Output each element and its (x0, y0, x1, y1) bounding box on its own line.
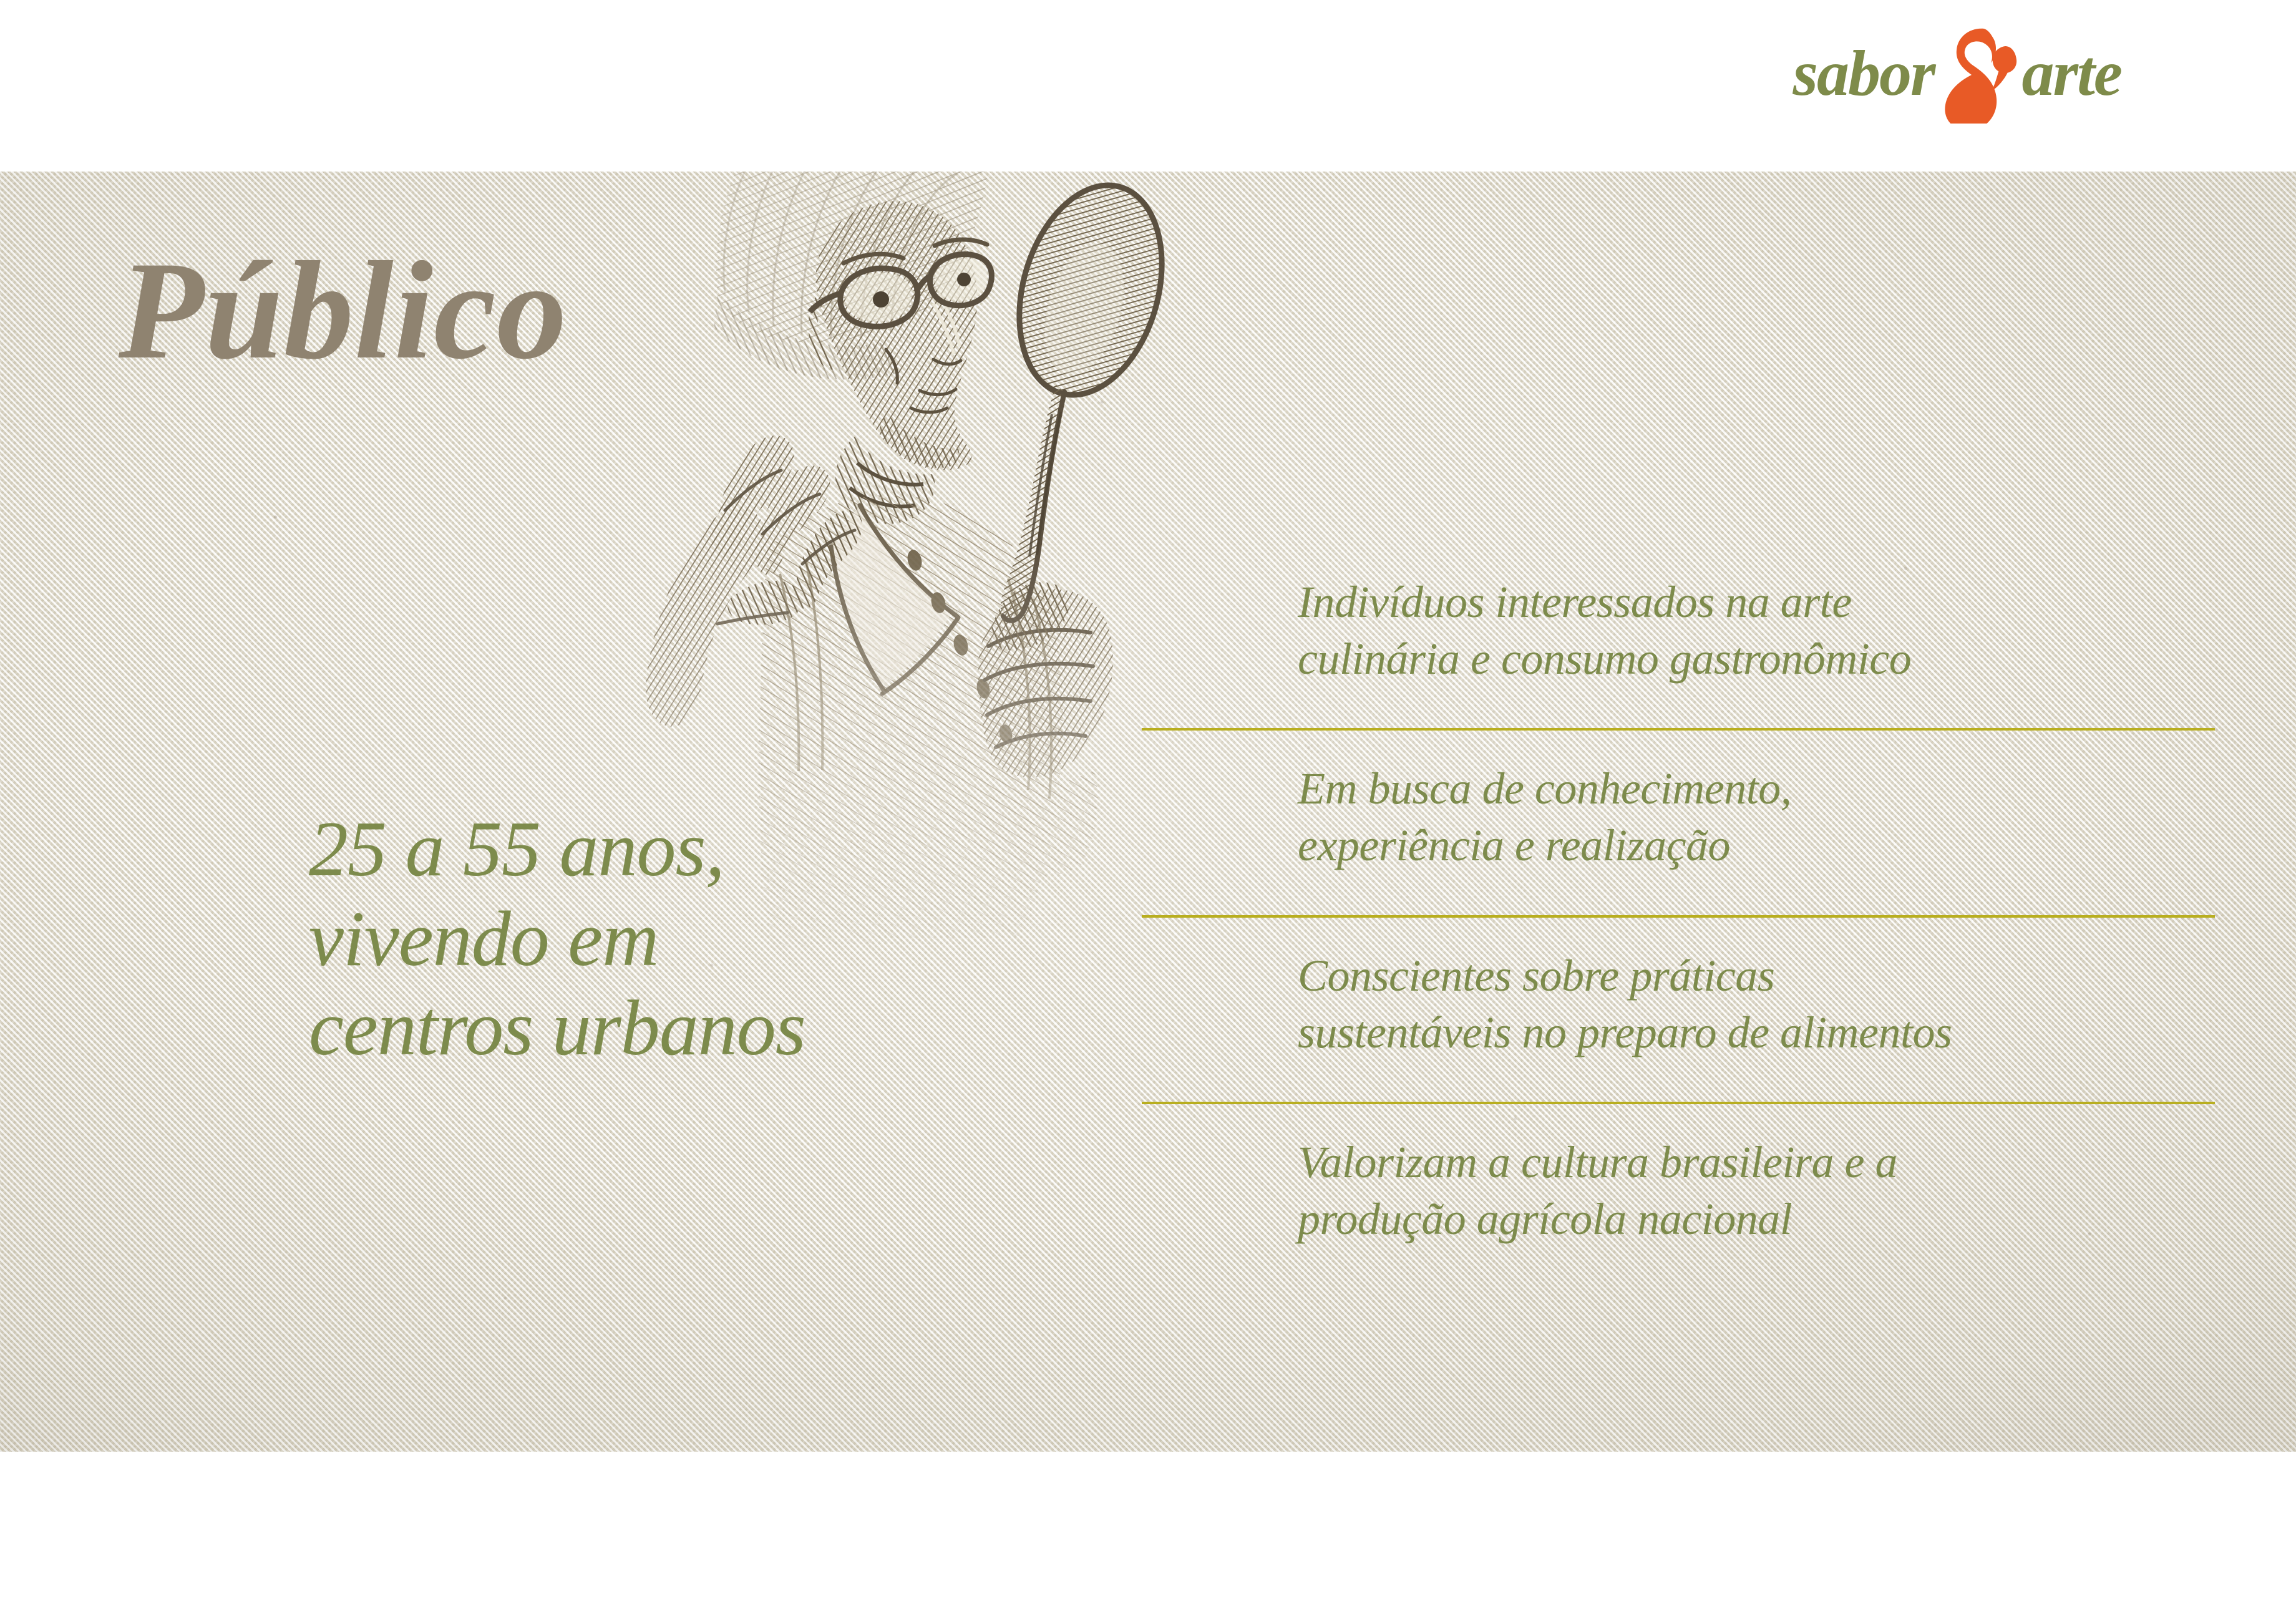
list-item: Valorizam a cultura brasileira e a produ… (1298, 1134, 2234, 1247)
list-item-line: Valorizam a cultura brasileira e a (1298, 1134, 2234, 1191)
list-item-line: culinária e consumo gastronômico (1298, 631, 2234, 687)
list-item: Em busca de conhecimento, experiência e … (1298, 760, 2234, 873)
spacer (1298, 918, 2234, 948)
logo-word-sabor: sabor (1793, 41, 1935, 106)
list-item: Indivíduos interessados na arte culinári… (1298, 574, 2234, 687)
header-band: sabor arte (0, 0, 2296, 172)
list-item-line: Em busca de conhecimento, (1298, 760, 2234, 817)
logo-word-arte: arte (2021, 41, 2121, 106)
spacer (1298, 1104, 2234, 1134)
page-title: Público (119, 240, 567, 381)
ampersand-icon (1932, 24, 2025, 124)
list-item-line: sustentáveis no preparo de alimentos (1298, 1004, 2234, 1061)
spacer (1298, 1061, 2234, 1102)
headline-line-2: vivendo em (309, 895, 1089, 984)
spacer (1298, 731, 2234, 760)
list-item: Conscientes sobre práticas sustentáveis … (1298, 948, 2234, 1061)
list-item-line: produção agrícola nacional (1298, 1191, 2234, 1248)
headline-line-1: 25 a 55 anos, (309, 805, 1089, 895)
spacer (1298, 687, 2234, 728)
brand-logo: sabor arte (1793, 30, 2121, 117)
headline-line-3: centros urbanos (309, 984, 1089, 1074)
list-item-line: Indivíduos interessados na arte (1298, 574, 2234, 631)
audience-headline: 25 a 55 anos, vivendo em centros urbanos (309, 805, 1089, 1074)
audience-points-list: Indivíduos interessados na arte culinári… (1298, 574, 2234, 1248)
list-item-line: Conscientes sobre práticas (1298, 948, 2234, 1004)
list-item-line: experiência e realização (1298, 817, 2234, 874)
spacer (1298, 874, 2234, 915)
